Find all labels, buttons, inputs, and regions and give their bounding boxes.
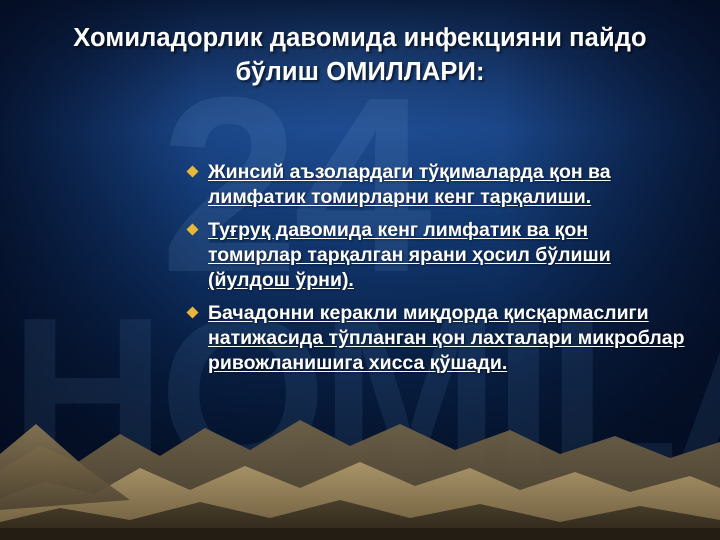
list-item-text: Туғруқ давомида кенг лимфатик ва қон том… [208,218,686,294]
page-title: Хомиладорлик давомида инфекцияни пайдо б… [36,22,684,89]
diamond-bullet-icon [186,218,208,236]
list-item: Жинсий аъзолардаги тўқималарда қон ва ли… [186,160,686,211]
slide: 24 HOMILAD [0,0,720,540]
diamond-bullet-icon [186,301,208,319]
list-item: Туғруқ давомида кенг лимфатик ва қон том… [186,218,686,294]
diamond-bullet-icon [186,160,208,178]
list-item: Бачадонни керакли миқдорда қисқармаслиги… [186,301,686,377]
list-item-text: Бачадонни керакли миқдорда қисқармаслиги… [208,301,686,377]
bullet-list: Жинсий аъзолардаги тўқималарда қон ва ли… [186,160,686,384]
list-item-text: Жинсий аъзолардаги тўқималарда қон ва ли… [208,160,686,211]
